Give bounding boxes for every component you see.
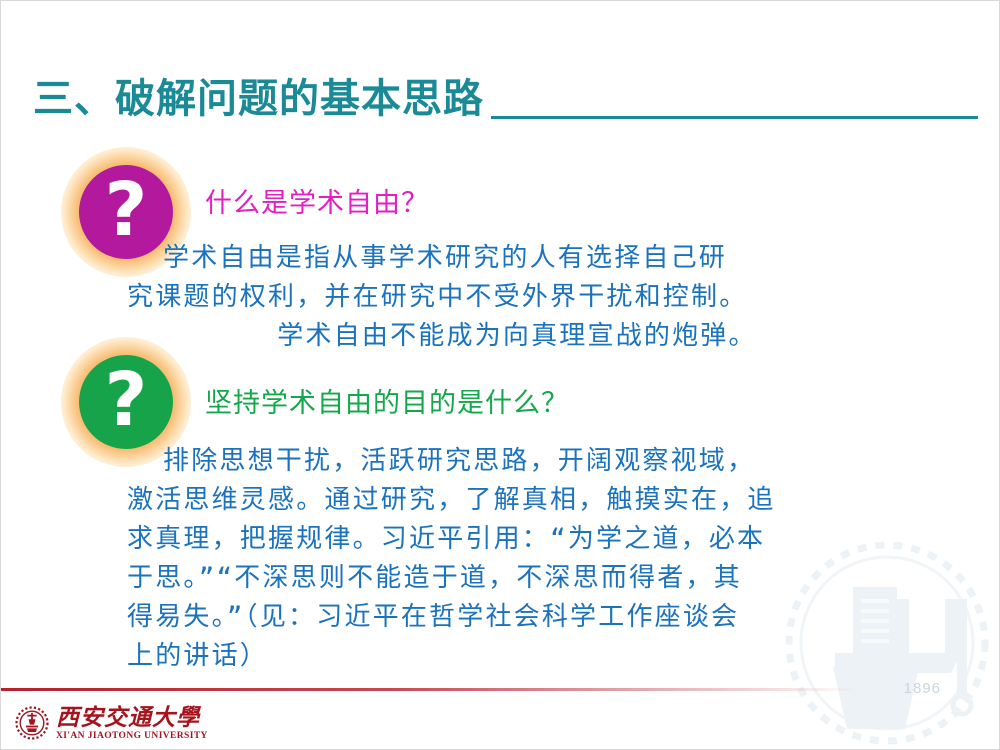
question-1-heading: 什么是学术自由？ — [205, 181, 429, 220]
university-logo: 西安交通大學 XI'AN JIAOTONG UNIVERSITY — [15, 706, 208, 742]
body-line: 得易失。”（见：习近平在哲学社会科学工作座谈会 — [127, 598, 907, 637]
university-seal-icon — [15, 706, 49, 740]
question-mark-glyph: ? — [105, 363, 148, 437]
footer-divider — [1, 688, 861, 691]
question-mark-circle-icon: ? — [73, 349, 179, 455]
slide-canvas: 1896 三、破解问题的基本思路 ? 什么是学术自由？ 学术自由是指从事学术研究… — [0, 0, 1000, 750]
watermark-year: 1896 — [904, 680, 941, 697]
body-line: 上的讲话） — [127, 637, 907, 676]
body-line: 排除思想干扰，活跃研究思路，开阔观察视域， — [127, 442, 907, 481]
university-name-cn: 西安交通大學 — [56, 706, 208, 729]
body-line: 求真理，把握规律。习近平引用：“为学之道，必本 — [127, 520, 907, 559]
body-line: 激活思维灵感。通过研究，了解真相，触摸实在，追 — [127, 481, 907, 520]
question-mark-glyph: ? — [105, 173, 148, 247]
university-name-en: XI'AN JIAOTONG UNIVERSITY — [56, 732, 208, 742]
page-title: 三、破解问题的基本思路 — [33, 75, 979, 127]
body-line: 学术自由是指从事学术研究的人有选择自己研 — [127, 239, 907, 278]
question-2-body: 排除思想干扰，活跃研究思路，开阔观察视域， 激活思维灵感。通过研究，了解真相，触… — [127, 442, 907, 676]
title-underline-divider — [491, 116, 978, 119]
page-title-text: 三、破解问题的基本思路 — [33, 75, 484, 123]
body-line: 学术自由不能成为向真理宣战的炮弹。 — [127, 317, 907, 356]
question-1-body: 学术自由是指从事学术研究的人有选择自己研 究课题的权利，并在研究中不受外界干扰和… — [127, 239, 907, 356]
body-line: 于思。”“不深思则不能造于道，不深思而得者，其 — [127, 559, 907, 598]
question-2-heading: 坚持学术自由的目的是什么？ — [205, 381, 569, 420]
body-line: 究课题的权利，并在研究中不受外界干扰和控制。 — [127, 278, 907, 317]
